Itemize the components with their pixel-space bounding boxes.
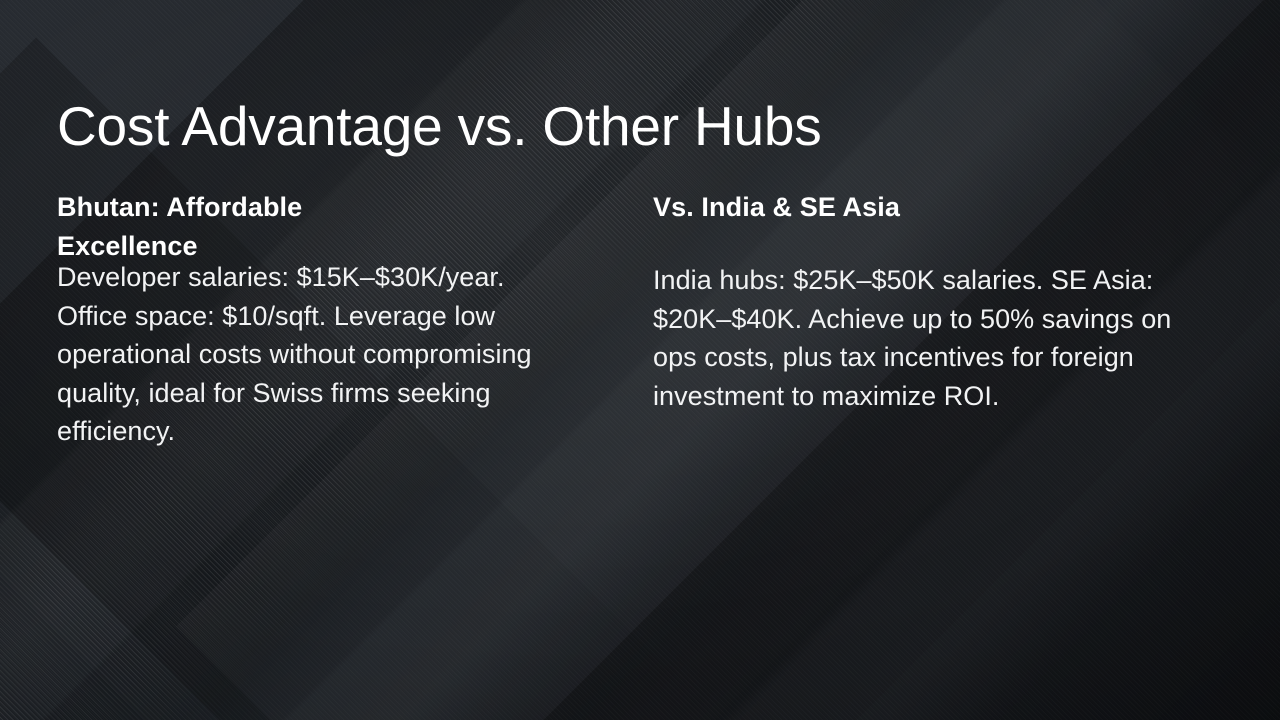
column-body-bhutan: Developer salaries: $15K–$30K/year. Offi… — [57, 258, 572, 451]
content-column-left: Bhutan: Affordable Excellence Developer … — [57, 188, 577, 451]
column-heading-bhutan: Bhutan: Affordable Excellence — [57, 188, 437, 266]
slide-content: Cost Advantage vs. Other Hubs Bhutan: Af… — [0, 0, 1280, 720]
column-heading-comparison: Vs. India & SE Asia — [653, 188, 1053, 227]
column-body-comparison: India hubs: $25K–$50K salaries. SE Asia:… — [653, 261, 1173, 415]
slide-title: Cost Advantage vs. Other Hubs — [57, 93, 1157, 159]
content-column-right: Vs. India & SE Asia India hubs: $25K–$50… — [653, 188, 1173, 415]
presentation-slide: Cost Advantage vs. Other Hubs Bhutan: Af… — [0, 0, 1280, 720]
